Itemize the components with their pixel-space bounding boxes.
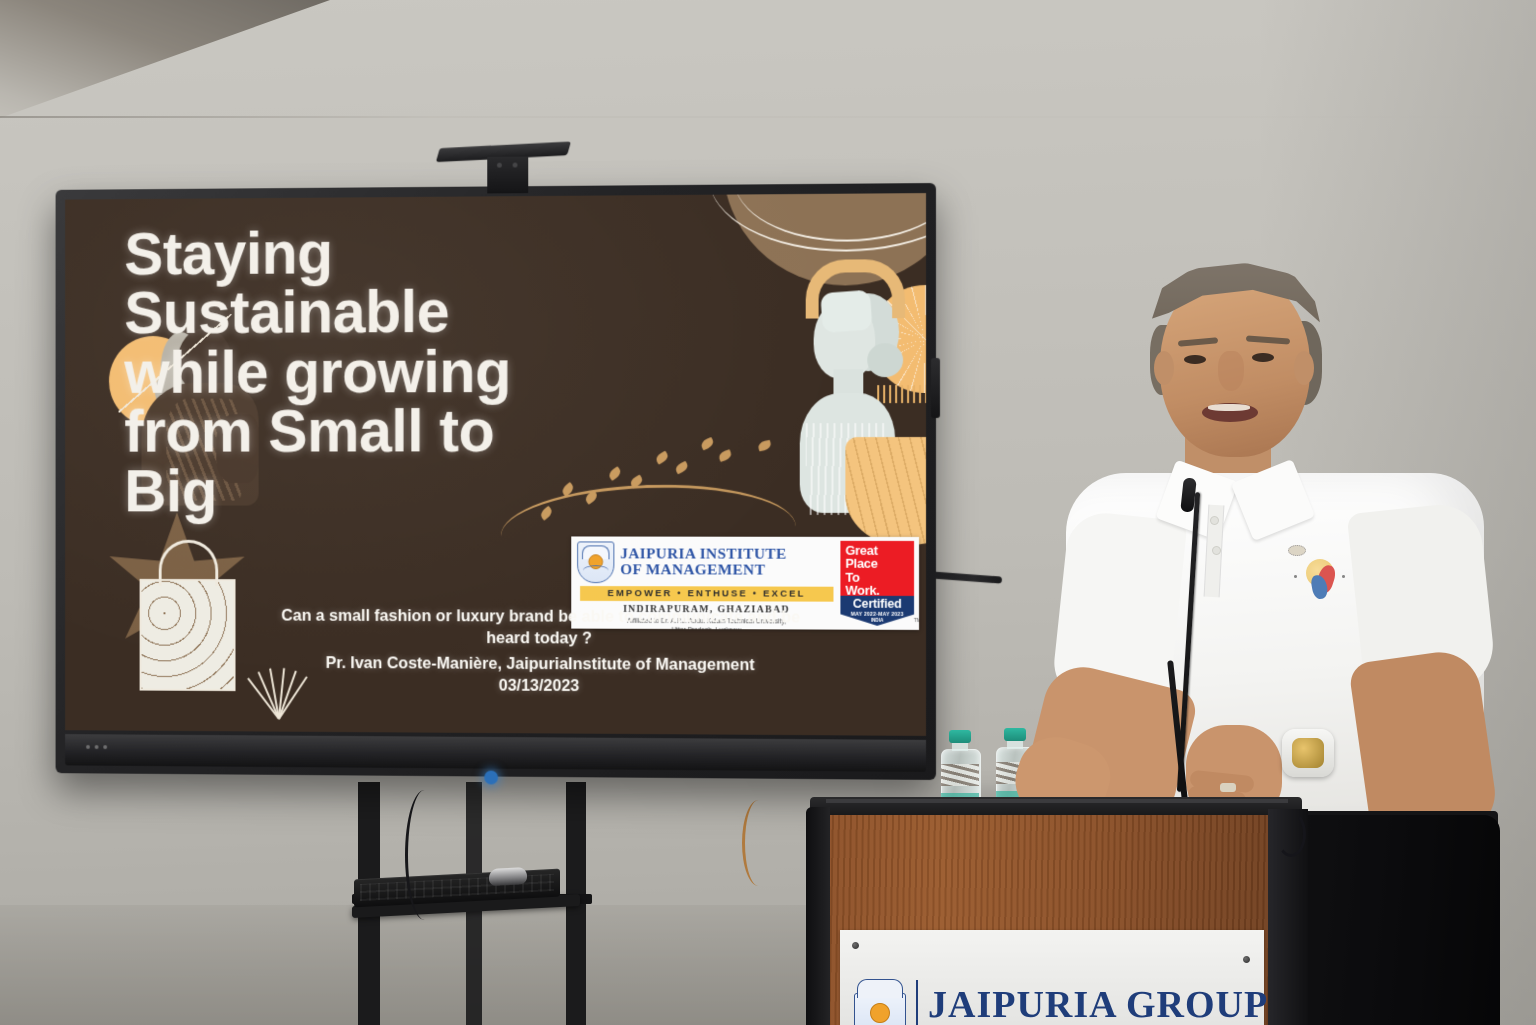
water-bottle-1[interactable] — [941, 730, 979, 804]
presentation-photo-scene: Staying Sustainable while growing from S… — [0, 0, 1536, 1025]
presentation-slide: Staying Sustainable while growing from S… — [65, 193, 926, 736]
floor-shadow — [0, 905, 830, 1025]
podium-cable — [1276, 811, 1306, 857]
slide-subtitle-block: Can a small fashion or luxury brand be a… — [234, 606, 850, 700]
bottle-cap — [1004, 728, 1026, 741]
eye-left — [1184, 355, 1206, 364]
slide-date: 03/13/2023 — [234, 675, 850, 700]
slide-subtitle-line1: Can a small fashion or luxury brand be a… — [234, 606, 850, 630]
gptw-line3: To — [845, 570, 914, 583]
wristwatch — [1282, 729, 1334, 777]
gptw-country: INDIA — [840, 618, 914, 623]
tote-bag-handle — [159, 540, 218, 586]
great-place-to-work-badge: Great Place To Work. Certified MAY 2022-… — [840, 541, 914, 626]
podium-crest-icon — [854, 979, 906, 1025]
white-tote-bag — [140, 579, 236, 691]
ear-right — [1294, 351, 1314, 385]
display-side-button[interactable] — [931, 358, 940, 418]
institute-name-line1: JAIPURIA INSTITUTE — [620, 546, 786, 563]
display-chin — [65, 734, 926, 772]
eye-right — [1252, 353, 1274, 362]
watch-face — [1292, 738, 1324, 768]
slide-author: Pr. Ivan Coste-Manière, JaipuriaInstitut… — [234, 652, 850, 677]
display-screen[interactable]: Staying Sustainable while growing from S… — [65, 193, 926, 736]
jaipuria-crest-icon — [577, 541, 614, 583]
display-power-led[interactable] — [484, 771, 498, 785]
podium: JAIPURIA GROUP — [806, 797, 1306, 1025]
institute-name-line2: OF MANAGEMENT — [620, 562, 786, 579]
finger-ring — [1220, 783, 1236, 792]
camera-mount — [487, 157, 528, 194]
bottle-cap — [949, 730, 971, 743]
sign-screw-left — [852, 942, 859, 949]
sign-divider — [916, 980, 918, 1025]
gptw-trademark: TM — [914, 618, 919, 624]
institute-tagline: EMPOWER • ENTHUSE • EXCEL — [580, 586, 833, 602]
podium-sign: JAIPURIA GROUP — [840, 930, 1264, 1025]
sign-screw-right — [1243, 956, 1250, 963]
mouse[interactable] — [489, 867, 527, 886]
teeth — [1208, 404, 1250, 411]
classical-bust-illustration — [786, 285, 926, 545]
shirt-crest-icon — [1288, 545, 1350, 607]
podium-left-edge — [806, 807, 830, 1025]
slide-subtitle-line2: heard today ? — [234, 627, 850, 651]
display-brand-mark — [86, 745, 112, 749]
power-cable — [405, 790, 444, 920]
shirt-button-bottom — [1213, 547, 1220, 554]
podium-sign-text: JAIPURIA GROUP — [928, 983, 1268, 1025]
display-cable — [742, 800, 775, 886]
gptw-line2: Place — [845, 557, 914, 570]
woven-bag — [845, 437, 926, 545]
slide-title: Staying Sustainable while growing from S… — [124, 221, 589, 520]
ear-left — [1154, 351, 1174, 385]
gptw-line4: Work. — [845, 584, 914, 597]
nose — [1218, 351, 1244, 391]
interactive-display[interactable]: Staying Sustainable while growing from S… — [56, 183, 936, 780]
gptw-certified: Certified — [840, 597, 914, 611]
shirt-button-top — [1211, 517, 1218, 524]
